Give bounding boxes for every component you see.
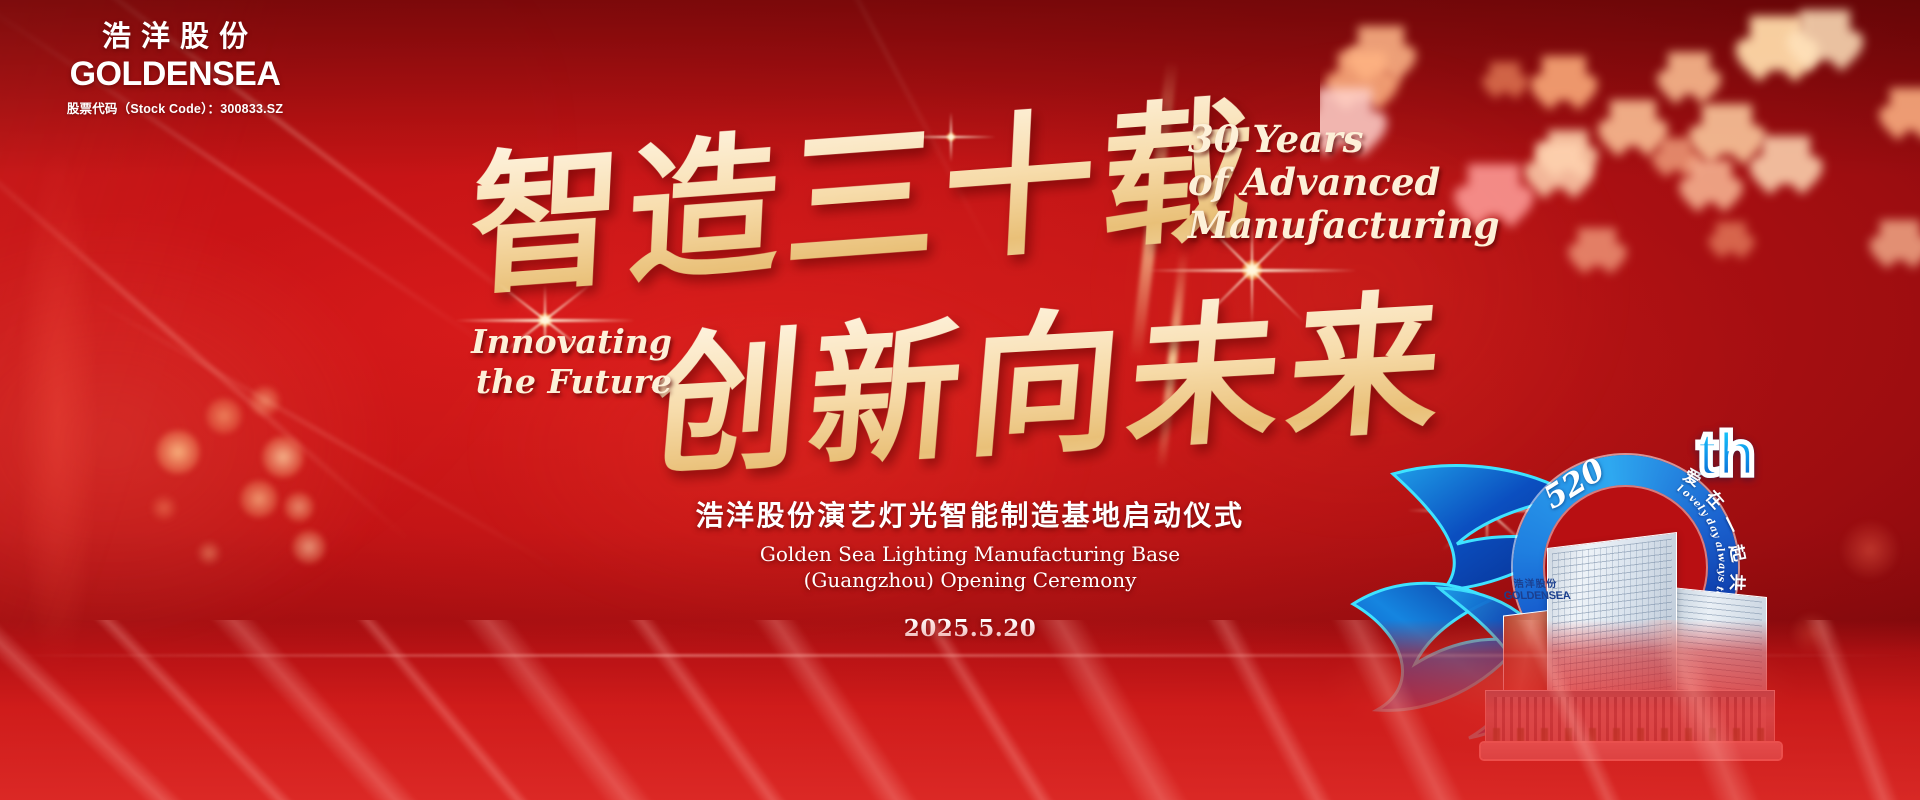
en-left-line2: the Future (452, 362, 672, 402)
event-title-en-line1: Golden Sea Lighting Manufacturing Base (690, 542, 1250, 568)
heart-bokeh-icon (1880, 220, 1920, 260)
heart-bokeh-icon (1702, 104, 1752, 154)
stage-floor (0, 620, 1920, 800)
bokeh-circle (150, 494, 178, 522)
banner-canvas: 浩洋股份 GOLDENSEA 股票代码（Stock Code）：300833.S… (0, 0, 1920, 800)
stock-code-label: 股票代码（Stock Code）：300833.SZ (40, 98, 310, 117)
bokeh-circle (206, 398, 242, 434)
bokeh-circle (1840, 520, 1900, 580)
floor-light-ray (1021, 620, 1212, 800)
en-left-line1: Innovating (452, 322, 672, 362)
building-facade-logo: 浩洋股份 GOLDENSEA (1502, 580, 1571, 602)
floor-light-ray (1796, 620, 1913, 800)
event-title-cn: 浩洋股份演艺灯光智能制造基地启动仪式 (690, 498, 1250, 533)
ordinal-suffix-th: th (1697, 424, 1756, 486)
en-right-line3: Manufacturing (1188, 204, 1518, 247)
heart-bokeh-icon (1610, 100, 1656, 146)
heart-bokeh-icon (1800, 10, 1850, 60)
bokeh-circle (292, 530, 326, 564)
floor-light-ray (1507, 620, 1640, 800)
heart-bokeh-icon (1660, 138, 1692, 170)
bokeh-circle (284, 492, 314, 522)
building-logo-cn: 浩洋股份 (1502, 580, 1570, 591)
heart-bokeh-icon (1716, 222, 1746, 252)
headline-english-right: 30 Years of Advanced Manufacturing (1188, 118, 1518, 247)
heart-bokeh-icon (1690, 160, 1732, 202)
heart-bokeh-icon (1542, 56, 1586, 100)
floor-light-ray (739, 620, 945, 800)
heart-bokeh-icon (1668, 52, 1710, 94)
bokeh-circle (250, 386, 280, 416)
brand-name-en: GOLDENSEA (40, 57, 310, 91)
event-title-en-line2: (Guangzhou) Opening Ceremony (690, 568, 1250, 594)
bokeh-circle (240, 480, 278, 518)
heart-bokeh-icon (1890, 88, 1920, 130)
en-right-line1: 30 Years (1188, 118, 1518, 161)
event-title-en: Golden Sea Lighting Manufacturing Base (… (690, 542, 1250, 593)
floor-light-ray (192, 620, 454, 800)
heart-bokeh-icon (1490, 62, 1520, 92)
brand-name-cn: 浩洋股份 (40, 22, 310, 54)
heart-bokeh-icon (1578, 228, 1616, 266)
bokeh-circle (156, 430, 200, 474)
floor-light-ray (1632, 620, 1777, 800)
floor-light-ray (1196, 620, 1354, 800)
bokeh-circle (262, 436, 304, 478)
floor-light-ray (1321, 620, 1484, 800)
brand-logo[interactable]: 浩洋股份 GOLDENSEA 股票代码（Stock Code）：300833.S… (40, 22, 310, 117)
building-logo-en: GOLDENSEA (1503, 590, 1571, 602)
en-right-line2: of Advanced (1188, 161, 1518, 204)
heart-bokeh-icon (1762, 136, 1810, 184)
headline-english-left: Innovating the Future (452, 322, 672, 403)
heart-bokeh-icon (1536, 142, 1582, 188)
bokeh-circle (196, 540, 222, 566)
